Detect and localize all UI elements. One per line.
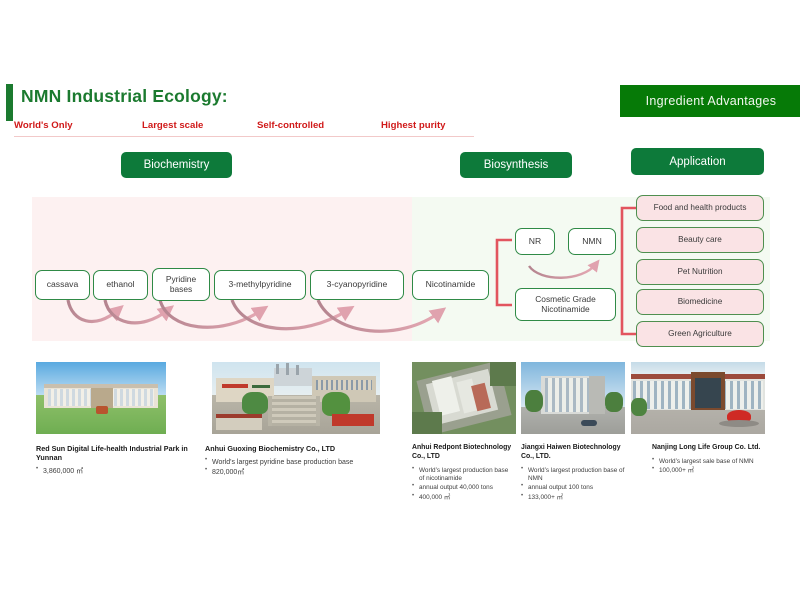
chain-node-ethanol[interactable]: ethanol <box>93 270 148 300</box>
facility-bullet: 3,860,000 ㎡ <box>36 467 201 476</box>
slide-canvas: NMN Industrial Ecology: Ingredient Advan… <box>0 0 800 600</box>
page-title: NMN Industrial Ecology: <box>21 86 228 107</box>
tagline-underline <box>14 136 474 137</box>
facility-bullet: World's largest pyridine base production… <box>205 458 395 467</box>
chain-node-label: 3-methylpyridine <box>228 280 291 290</box>
facility-bullets: World’s largest production base of NMN a… <box>521 467 625 502</box>
facility-caption-nanjing-long-life: Nanjing Long Life Group Co. Ltd. World’s… <box>652 444 764 476</box>
facility-bullet: 400,000 ㎡ <box>412 494 514 502</box>
chain-node-label: cassava <box>47 280 79 290</box>
chain-node-3-methylpyridine[interactable]: 3-methylpyridine <box>214 270 306 300</box>
application-node-label: Beauty care <box>678 235 722 244</box>
biochemistry-panel <box>32 197 412 341</box>
facility-bullets: World’s largest sale base of NMN 100,000… <box>652 458 764 476</box>
facility-bullet: annual output 40,000 tons <box>412 484 514 492</box>
facility-caption-anhui-redpont: Anhui Redpont Biotechnology Co., LTD Wor… <box>412 444 514 503</box>
application-node-beauty-care[interactable]: Beauty care <box>636 227 764 253</box>
tagline-row: World's Only Largest scale Self-controll… <box>14 120 474 140</box>
facility-bullets: World’s largest production base of nicot… <box>412 467 514 502</box>
bio-node-label: NR <box>529 237 541 247</box>
tagline-self-controlled: Self-controlled <box>257 120 324 131</box>
application-node-green-agriculture[interactable]: Green Agriculture <box>636 321 764 347</box>
facility-bullet: 133,000+ ㎡ <box>521 494 625 502</box>
facility-caption-jiangxi-haiwen: Jiangxi Haiwen Biotechnology Co., LTD. W… <box>521 444 625 503</box>
chain-node-label: Pyridine bases <box>156 275 206 294</box>
bio-node-label: Cosmetic Grade Nicotinamide <box>519 295 612 314</box>
bio-node-label: NMN <box>582 237 602 247</box>
facility-photo-nanjing-long-life <box>631 362 765 434</box>
bio-node-cosmetic-grade-nicotinamide[interactable]: Cosmetic Grade Nicotinamide <box>515 288 616 321</box>
chain-node-3-cyanopyridine[interactable]: 3-cyanopyridine <box>310 270 404 300</box>
section-label-application: Application <box>669 156 725 168</box>
facility-photo-red-sun <box>36 362 166 434</box>
chain-node-label: ethanol <box>106 280 134 290</box>
facility-photo-anhui-guoxing <box>212 362 380 434</box>
application-node-pet-nutrition[interactable]: Pet Nutrition <box>636 259 764 285</box>
section-button-application[interactable]: Application <box>631 148 764 175</box>
facility-bullet: 820,000㎡ <box>205 468 395 477</box>
facility-caption-red-sun: Red Sun Digital Life-health Industrial P… <box>36 444 201 478</box>
section-button-biochemistry[interactable]: Biochemistry <box>121 152 232 178</box>
facility-name: Nanjing Long Life Group Co. Ltd. <box>652 444 764 453</box>
application-node-label: Pet Nutrition <box>677 267 722 276</box>
tagline-highest-purity: Highest purity <box>381 120 446 131</box>
facility-bullet: World’s largest production base of nicot… <box>412 467 514 484</box>
ribbon-label: Ingredient Advantages <box>646 94 777 108</box>
facility-bullet: annual output 100 tons <box>521 484 625 492</box>
section-label-biochemistry: Biochemistry <box>144 159 210 171</box>
title-accent-bar <box>6 84 13 121</box>
ingredient-advantages-ribbon: Ingredient Advantages <box>620 85 800 117</box>
chain-node-pyridine-bases[interactable]: Pyridine bases <box>152 268 210 301</box>
facility-bullets: 3,860,000 ㎡ <box>36 467 201 476</box>
section-button-biosynthesis[interactable]: Biosynthesis <box>460 152 572 178</box>
bio-node-label: Nicotinamide <box>426 280 476 290</box>
facility-bullet: World’s largest production base of NMN <box>521 467 625 484</box>
tagline-worlds-only: World's Only <box>14 120 73 131</box>
bio-node-nicotinamide[interactable]: Nicotinamide <box>412 270 489 300</box>
application-node-label: Biomedicine <box>678 297 723 306</box>
facility-bullet: World’s largest sale base of NMN <box>652 458 764 466</box>
application-node-label: Food and health products <box>654 203 747 212</box>
application-node-food-and-health-products[interactable]: Food and health products <box>636 195 764 221</box>
facility-name: Red Sun Digital Life-health Industrial P… <box>36 444 201 462</box>
facility-bullet: 100,000+ ㎡ <box>652 467 764 475</box>
facility-name: Jiangxi Haiwen Biotechnology Co., LTD. <box>521 444 625 462</box>
facility-bullets: World's largest pyridine base production… <box>205 458 395 477</box>
tagline-largest-scale: Largest scale <box>142 120 203 131</box>
facility-photo-anhui-redpont <box>412 362 516 434</box>
chain-node-cassava[interactable]: cassava <box>35 270 90 300</box>
section-label-biosynthesis: Biosynthesis <box>484 159 549 171</box>
facility-caption-anhui-guoxing: Anhui Guoxing Biochemistry Co., LTD Worl… <box>205 444 395 478</box>
facility-name: Anhui Guoxing Biochemistry Co., LTD <box>205 444 395 453</box>
application-node-biomedicine[interactable]: Biomedicine <box>636 289 764 315</box>
chain-node-label: 3-cyanopyridine <box>327 280 388 290</box>
bio-node-nmn[interactable]: NMN <box>568 228 616 255</box>
facility-photo-jiangxi-haiwen <box>521 362 625 434</box>
facility-name: Anhui Redpont Biotechnology Co., LTD <box>412 444 514 462</box>
bio-node-nr[interactable]: NR <box>515 228 555 255</box>
application-node-label: Green Agriculture <box>668 329 732 338</box>
